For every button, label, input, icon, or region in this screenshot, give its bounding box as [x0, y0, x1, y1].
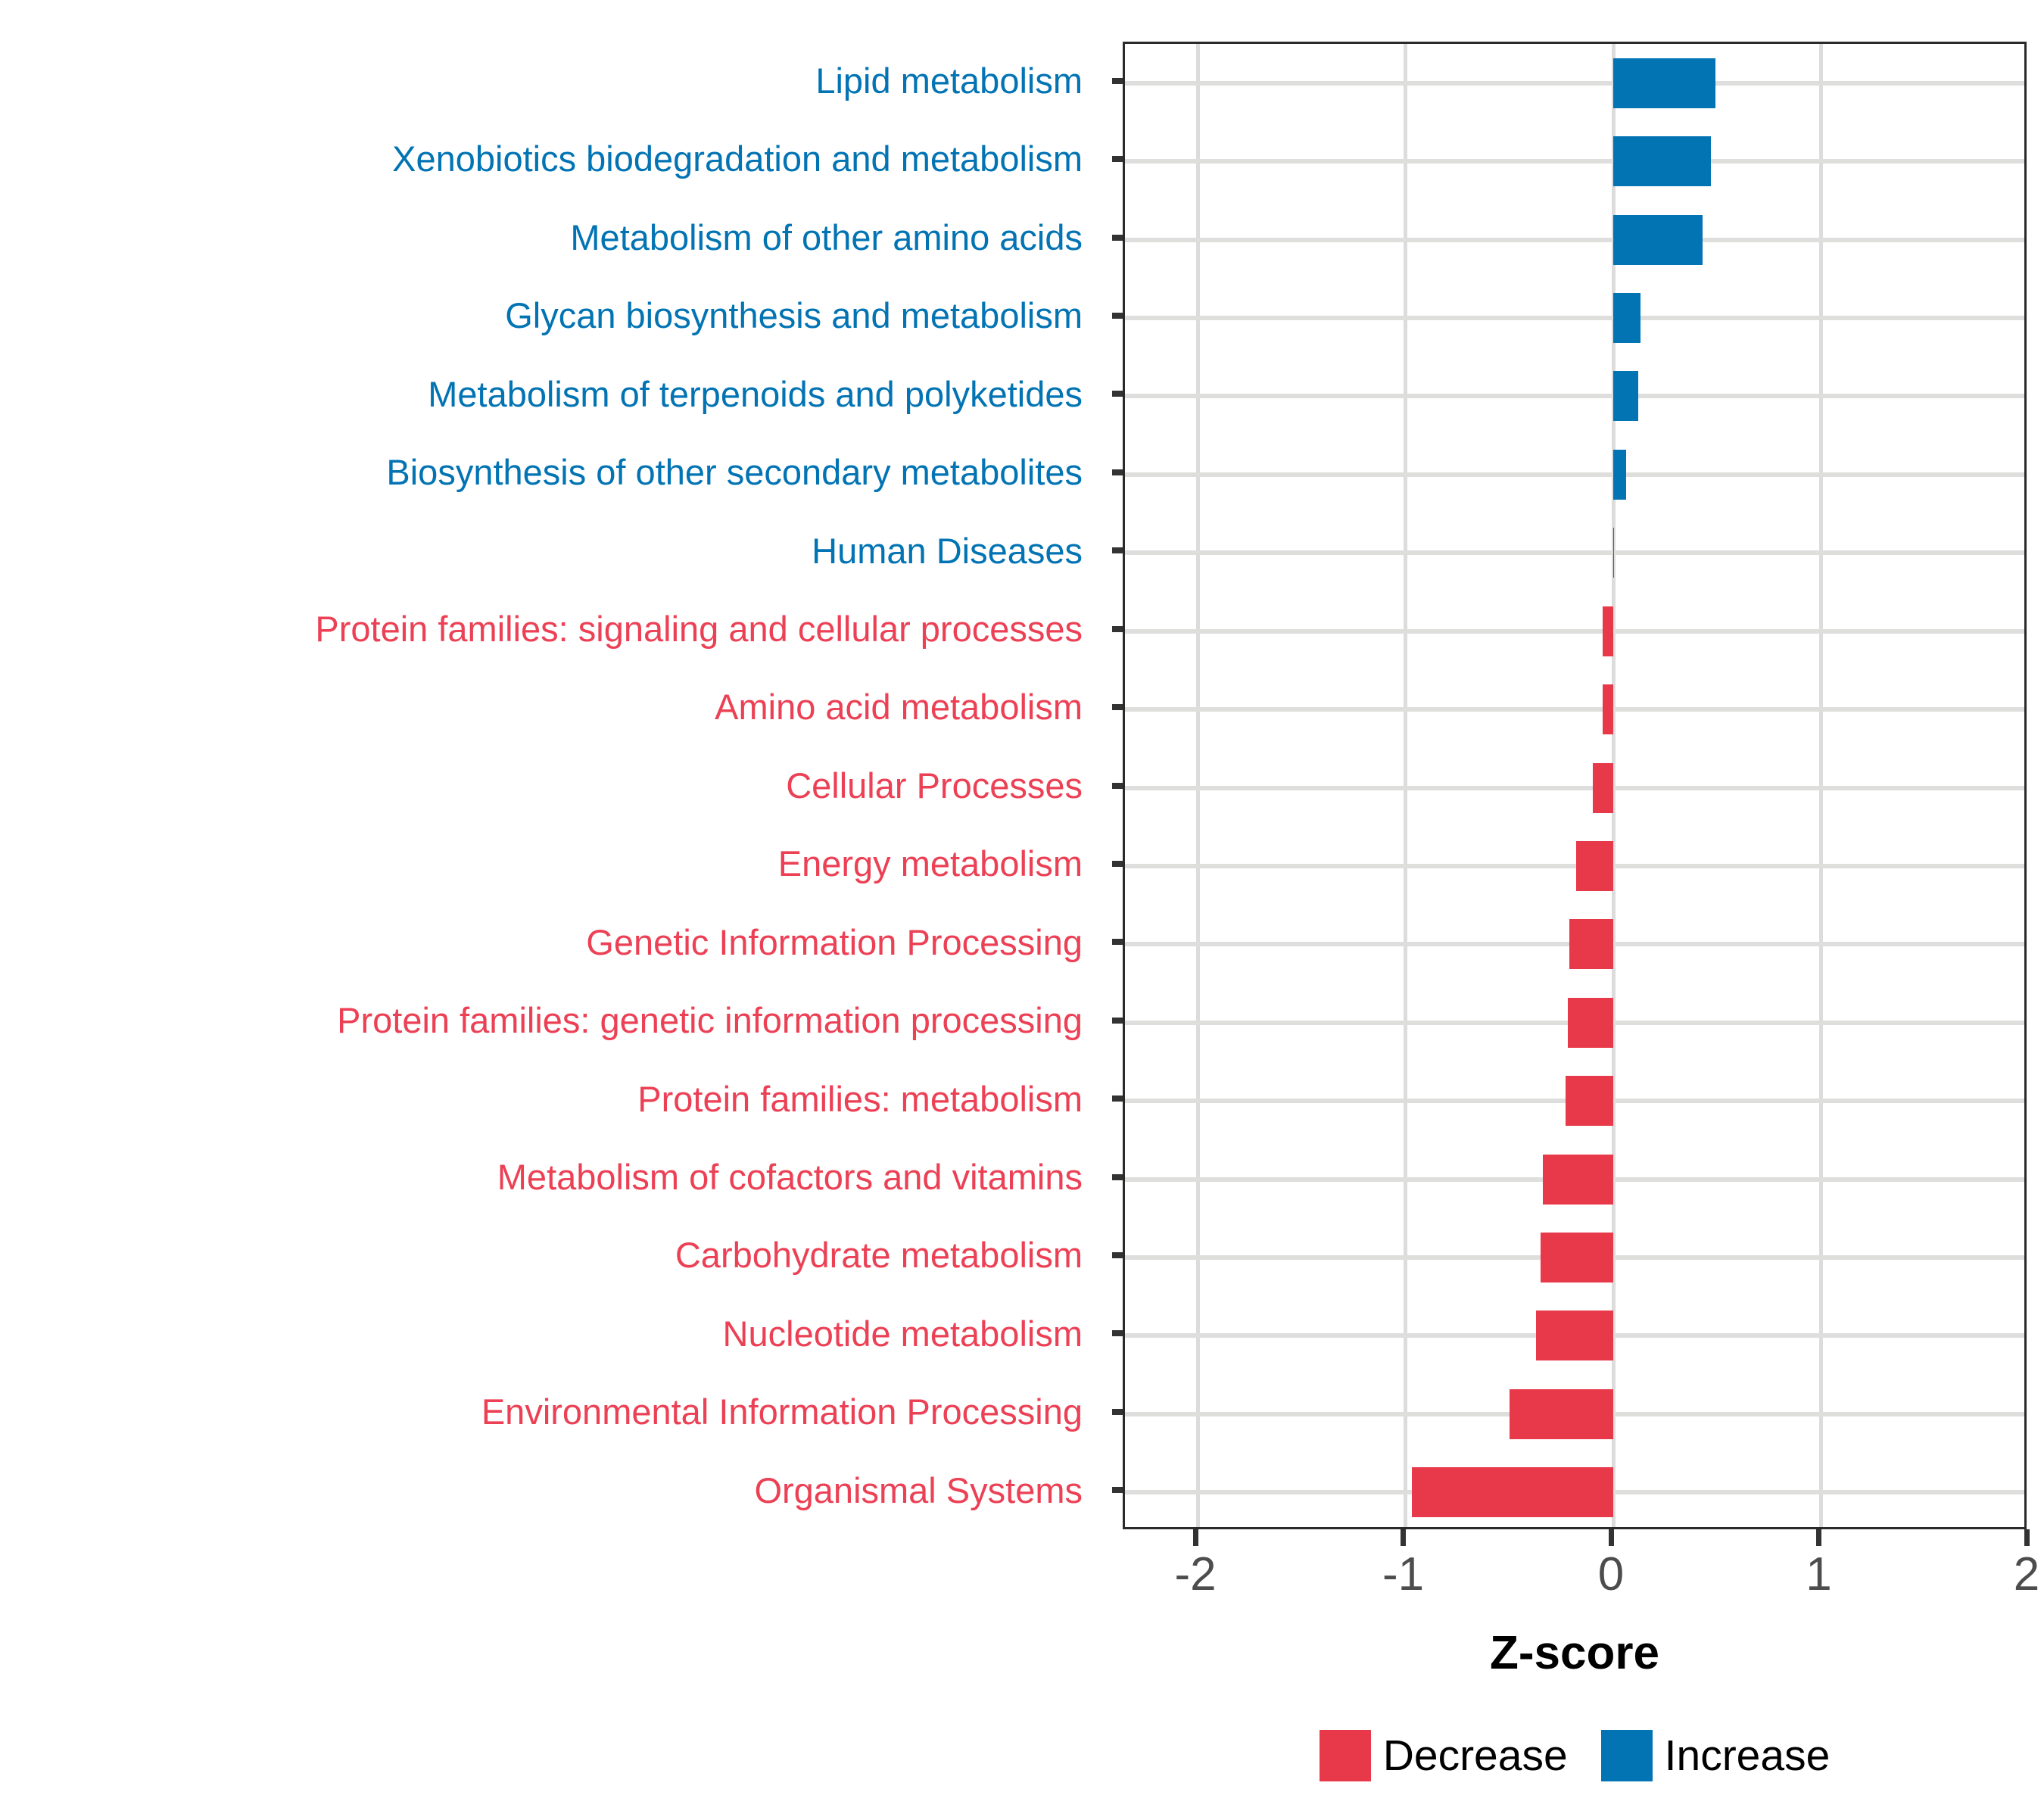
y-axis-tick	[1112, 1252, 1123, 1258]
y-axis-tick	[1112, 626, 1123, 632]
horizontal-gridline	[1125, 864, 2024, 868]
y-axis-tick-label: Environmental Information Processing	[481, 1393, 1083, 1430]
plot-panel	[1123, 42, 2027, 1529]
y-axis-tick	[1112, 1330, 1123, 1336]
horizontal-gridline	[1125, 394, 2024, 398]
y-axis-label-row: Nucleotide metabolism	[0, 1308, 1089, 1358]
legend-item-increase[interactable]: Increase	[1601, 1730, 1831, 1781]
legend-swatch-icon	[1320, 1730, 1371, 1781]
y-axis-tick-label: Protein families: metabolism	[637, 1080, 1083, 1117]
y-axis-label-row: Metabolism of terpenoids and polyketides	[0, 369, 1089, 419]
y-axis-label-row: Xenobiotics biodegradation and metabolis…	[0, 134, 1089, 184]
y-axis-label-row: Amino acid metabolism	[0, 682, 1089, 732]
y-axis-tick	[1112, 1018, 1123, 1024]
horizontal-gridline	[1125, 786, 2024, 790]
bar-decrease	[1412, 1467, 1613, 1517]
y-axis-label-row: Organismal Systems	[0, 1465, 1089, 1515]
y-axis-tick-label: Metabolism of terpenoids and polyketides	[428, 376, 1083, 413]
chart-figure: Lipid metabolismXenobiotics biodegradati…	[0, 0, 2044, 1817]
y-axis-tick	[1112, 391, 1123, 397]
y-axis-label-row: Lipid metabolism	[0, 56, 1089, 106]
y-axis-label-row: Environmental Information Processing	[0, 1387, 1089, 1437]
y-axis-label-row: Cellular Processes	[0, 761, 1089, 811]
x-axis-tick-label: -2	[1120, 1547, 1271, 1601]
x-axis-tick-label: 1	[1743, 1547, 1895, 1601]
bar-increase	[1613, 450, 1625, 500]
y-axis-tick	[1112, 235, 1123, 241]
x-axis-tick	[1401, 1529, 1406, 1546]
bar-decrease	[1510, 1389, 1613, 1439]
horizontal-gridline	[1125, 472, 2024, 477]
y-axis-tick	[1112, 156, 1123, 162]
bar-decrease	[1536, 1311, 1613, 1360]
bar-decrease	[1603, 606, 1613, 656]
y-axis-label-row: Metabolism of other amino acids	[0, 213, 1089, 263]
y-axis-tick-label: Human Diseases	[812, 532, 1083, 569]
y-axis-label-row: Glycan biosynthesis and metabolism	[0, 291, 1089, 341]
y-axis-label-row: Genetic Information Processing	[0, 917, 1089, 967]
y-axis-tick-label: Lipid metabolism	[815, 62, 1083, 99]
horizontal-gridline	[1125, 81, 2024, 86]
bar-decrease	[1593, 763, 1613, 813]
y-axis-tick	[1112, 469, 1123, 475]
x-axis-tick-label: -1	[1328, 1547, 1479, 1601]
y-axis-tick-label: Amino acid metabolism	[715, 688, 1083, 725]
y-axis-tick-label: Genetic Information Processing	[586, 924, 1083, 961]
y-axis-tick-label: Glycan biosynthesis and metabolism	[505, 297, 1083, 334]
legend: DecreaseIncrease	[1123, 1730, 2027, 1781]
legend-label: Decrease	[1383, 1731, 1568, 1781]
bar-decrease	[1541, 1233, 1613, 1282]
y-axis-tick	[1112, 547, 1123, 553]
y-axis-tick	[1112, 313, 1123, 319]
y-axis-tick	[1112, 1487, 1123, 1493]
y-axis-tick-label: Cellular Processes	[786, 767, 1083, 804]
horizontal-gridline	[1125, 629, 2024, 634]
horizontal-gridline	[1125, 707, 2024, 712]
x-axis-tick-label: 2	[1951, 1547, 2044, 1601]
bar-decrease	[1569, 919, 1613, 969]
y-axis-tick	[1112, 1174, 1123, 1180]
y-axis-label-row: Carbohydrate metabolism	[0, 1230, 1089, 1280]
y-axis-label-row: Biosynthesis of other secondary metaboli…	[0, 447, 1089, 497]
horizontal-gridline	[1125, 238, 2024, 242]
y-axis-label-row: Human Diseases	[0, 525, 1089, 575]
bar-increase	[1613, 371, 1638, 421]
horizontal-gridline	[1125, 316, 2024, 320]
bar-increase	[1613, 293, 1640, 343]
y-axis-tick	[1112, 78, 1123, 84]
y-axis-tick-label: Organismal Systems	[754, 1472, 1083, 1509]
x-axis-tick	[1193, 1529, 1198, 1546]
legend-swatch-icon	[1601, 1730, 1653, 1781]
y-axis-tick	[1112, 783, 1123, 789]
bar-increase	[1613, 528, 1614, 578]
x-axis-title: Z-score	[1123, 1626, 2027, 1680]
y-axis-tick	[1112, 1095, 1123, 1102]
y-axis-tick-label: Carbohydrate metabolism	[675, 1236, 1083, 1273]
y-axis-tick-label: Metabolism of other amino acids	[570, 219, 1083, 256]
y-axis-label-row: Protein families: signaling and cellular…	[0, 604, 1089, 654]
bar-decrease	[1576, 841, 1613, 891]
legend-label: Increase	[1665, 1731, 1831, 1781]
x-axis-tick	[1816, 1529, 1821, 1546]
y-axis-tick-label: Protein families: signaling and cellular…	[315, 610, 1083, 647]
bar-decrease	[1603, 684, 1613, 734]
y-axis-tick	[1112, 704, 1123, 710]
y-axis-tick	[1112, 1409, 1123, 1415]
horizontal-gridline	[1125, 550, 2024, 555]
y-axis-tick-label: Xenobiotics biodegradation and metabolis…	[392, 140, 1083, 177]
y-axis-tick	[1112, 939, 1123, 945]
horizontal-gridline	[1125, 159, 2024, 164]
x-axis-tick	[2024, 1529, 2030, 1546]
y-axis-tick-label: Metabolism of cofactors and vitamins	[497, 1158, 1083, 1195]
y-axis-tick-label: Energy metabolism	[778, 845, 1083, 882]
bar-increase	[1613, 136, 1711, 186]
x-axis-tick	[1609, 1529, 1614, 1546]
y-axis-tick-label: Biosynthesis of other secondary metaboli…	[386, 453, 1083, 491]
y-axis-label-row: Protein families: metabolism	[0, 1074, 1089, 1124]
bar-decrease	[1566, 1076, 1613, 1126]
bar-decrease	[1568, 998, 1613, 1048]
y-axis-label-row: Protein families: genetic information pr…	[0, 996, 1089, 1046]
legend-item-decrease[interactable]: Decrease	[1320, 1730, 1568, 1781]
y-axis-tick-label: Nucleotide metabolism	[723, 1315, 1083, 1352]
bar-increase	[1613, 58, 1715, 108]
y-axis-tick-label: Protein families: genetic information pr…	[337, 1002, 1083, 1039]
y-axis-label-row: Metabolism of cofactors and vitamins	[0, 1152, 1089, 1202]
y-axis-tick	[1112, 861, 1123, 867]
x-axis-tick-label: 0	[1535, 1547, 1687, 1601]
bar-decrease	[1543, 1155, 1613, 1205]
y-axis-label-row: Energy metabolism	[0, 839, 1089, 889]
y-axis-label-column: Lipid metabolismXenobiotics biodegradati…	[0, 42, 1089, 1529]
bar-increase	[1613, 215, 1703, 265]
